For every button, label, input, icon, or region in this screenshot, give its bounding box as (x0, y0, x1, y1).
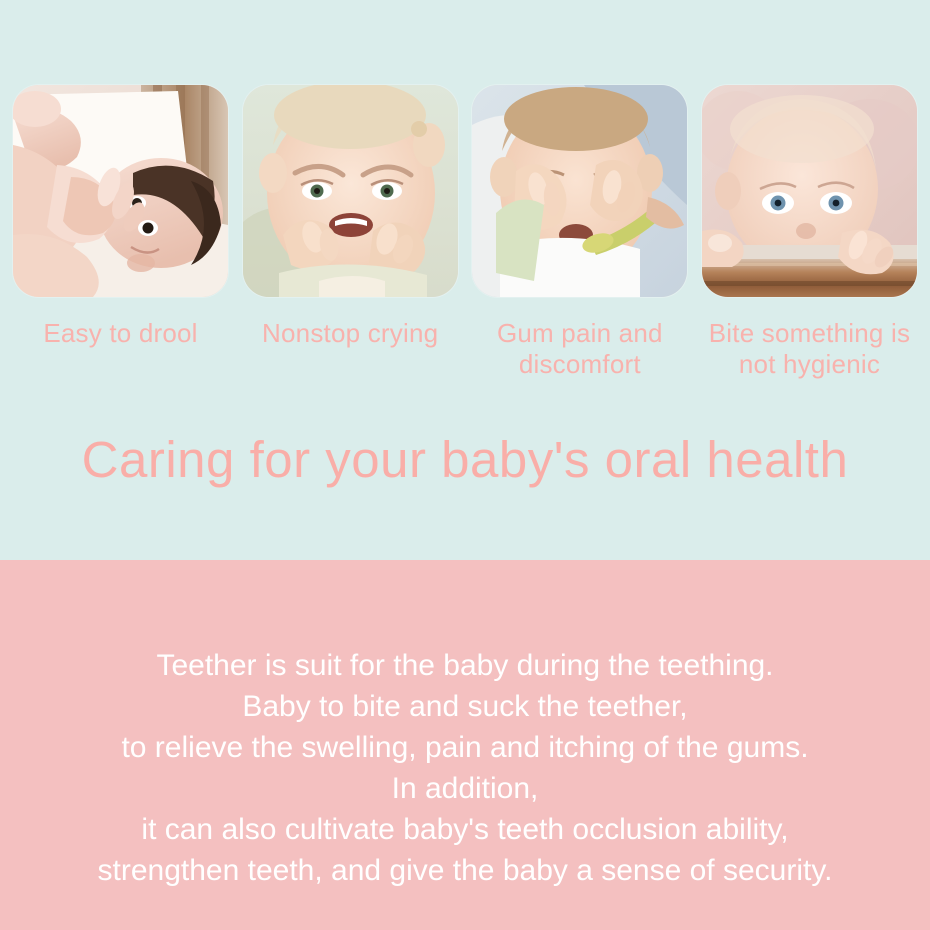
description-line-6: strengthen teeth, and give the baby a se… (0, 850, 930, 891)
photo-card-baby-crying (243, 85, 458, 297)
baby-chewing-hand-in-crib-image (13, 85, 228, 297)
photo-card-baby-rubbing-face-being-fed (472, 85, 687, 297)
baby-crying-image (243, 85, 458, 297)
description-line-3: to relieve the swelling, pain and itchin… (0, 727, 930, 768)
baby-rubbing-face-being-fed-image (472, 85, 687, 297)
wave-divider (0, 555, 930, 615)
symptom-caption-row: Easy to drool Nonstop crying Gum pain an… (0, 318, 930, 408)
caption-gum-pain-and-discomfort: Gum pain and discomfort (472, 318, 687, 408)
photo-card-baby-chewing-hand-in-crib (13, 85, 228, 297)
page-headline: Caring for your baby's oral health (0, 432, 930, 488)
wave-divider-shape (0, 555, 930, 615)
description-line-5: it can also cultivate baby's teeth occlu… (0, 809, 930, 850)
caption-nonstop-crying: Nonstop crying (243, 318, 458, 408)
photo-card-baby-biting-wooden-rail (702, 85, 917, 297)
description-paragraph: Teether is suit for the baby during the … (0, 645, 930, 891)
caption-easy-to-drool: Easy to drool (13, 318, 228, 408)
description-line-2: Baby to bite and suck the teether, (0, 686, 930, 727)
symptom-photo-row (0, 85, 930, 297)
product-infographic-page: Easy to drool Nonstop crying Gum pain an… (0, 0, 930, 930)
baby-biting-wooden-rail-image (702, 85, 917, 297)
description-line-4: In addition, (0, 768, 930, 809)
caption-bite-something-is-not-hygienic: Bite something is not hygienic (702, 318, 917, 408)
description-line-1: Teether is suit for the baby during the … (0, 645, 930, 686)
